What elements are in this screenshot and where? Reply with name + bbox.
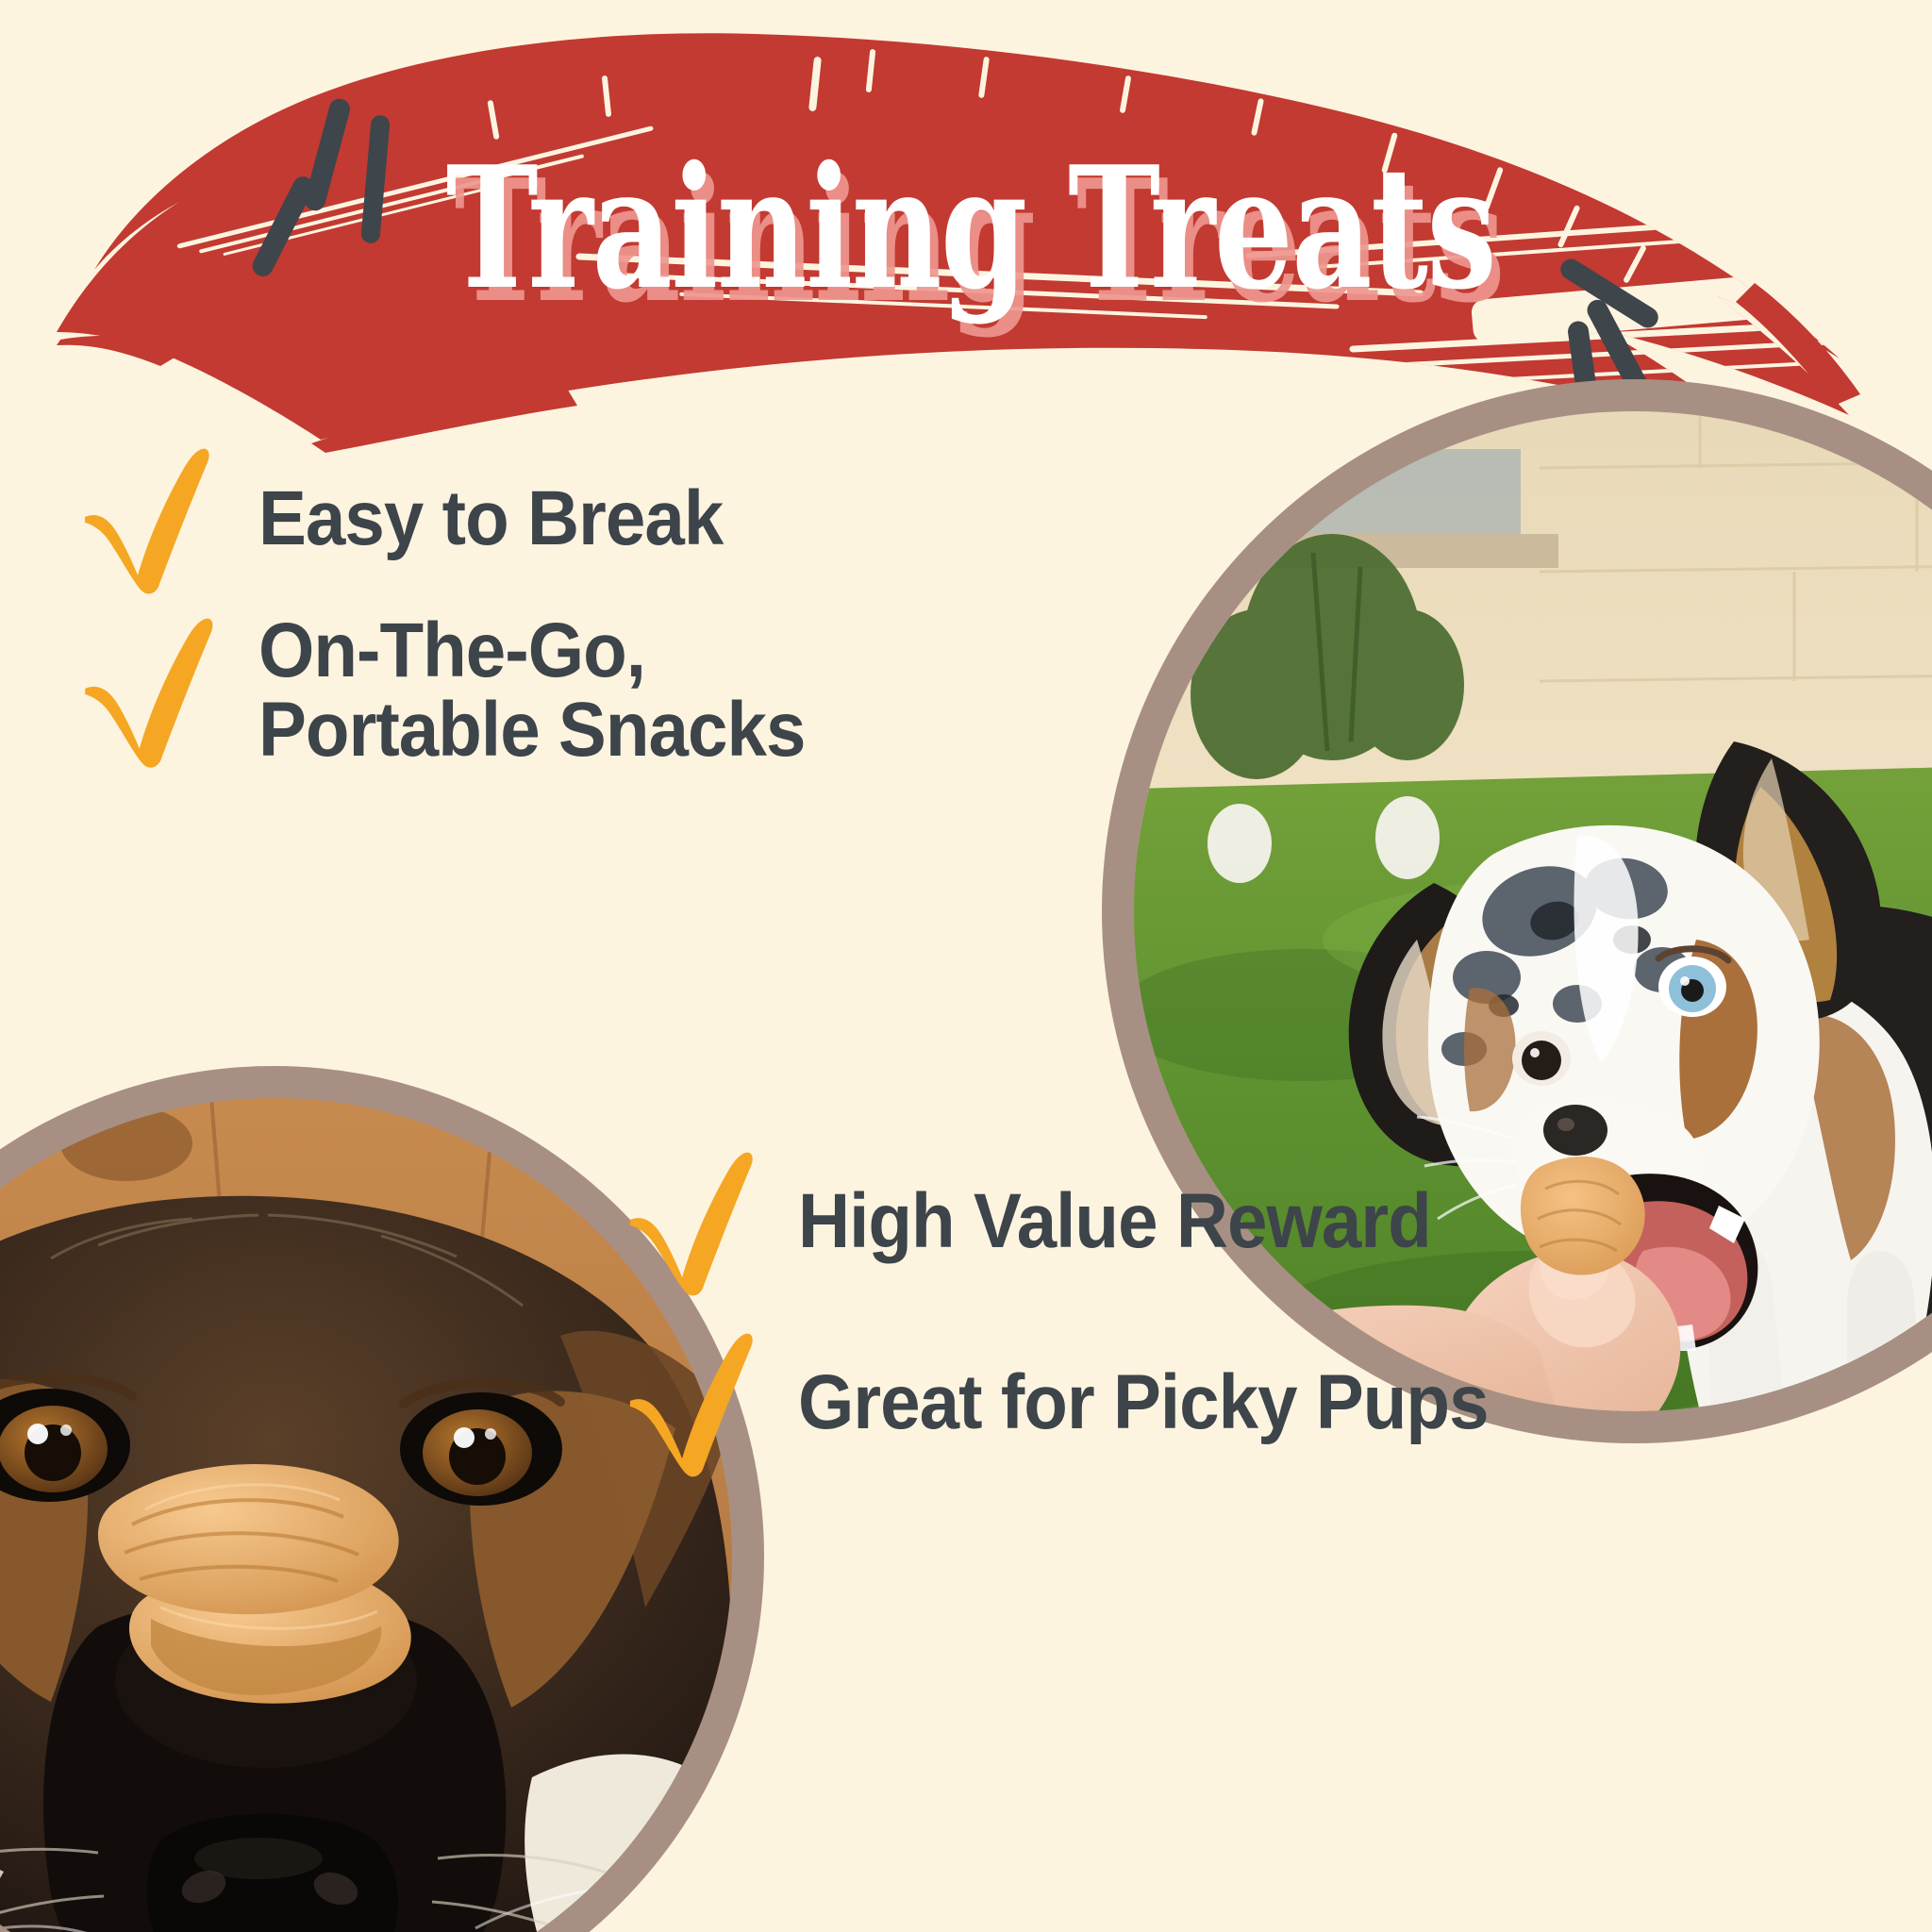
checkmark-icon (623, 1147, 758, 1296)
checkmark-icon (623, 1328, 758, 1477)
feature-label-easy-to-break: Easy to Break (258, 479, 723, 558)
feature-label-great-for-picky-pups: Great for Picky Pups (798, 1363, 1489, 1442)
feature-item-high-value-reward: High Value Reward (623, 1147, 1478, 1296)
feature-label-high-value-reward: High Value Reward (798, 1182, 1431, 1261)
feature-item-great-for-picky-pups: Great for Picky Pups (623, 1328, 1541, 1477)
checkmark-icon (77, 612, 219, 769)
feature-item-easy-to-break: Easy to Break (77, 443, 758, 594)
poster-canvas: Training Treats (0, 0, 1932, 1932)
feature-label-on-the-go: On-The-Go, Portable Snacks (258, 611, 805, 769)
feature-item-on-the-go: On-The-Go, Portable Snacks (77, 611, 846, 769)
checkmark-icon (77, 443, 215, 594)
